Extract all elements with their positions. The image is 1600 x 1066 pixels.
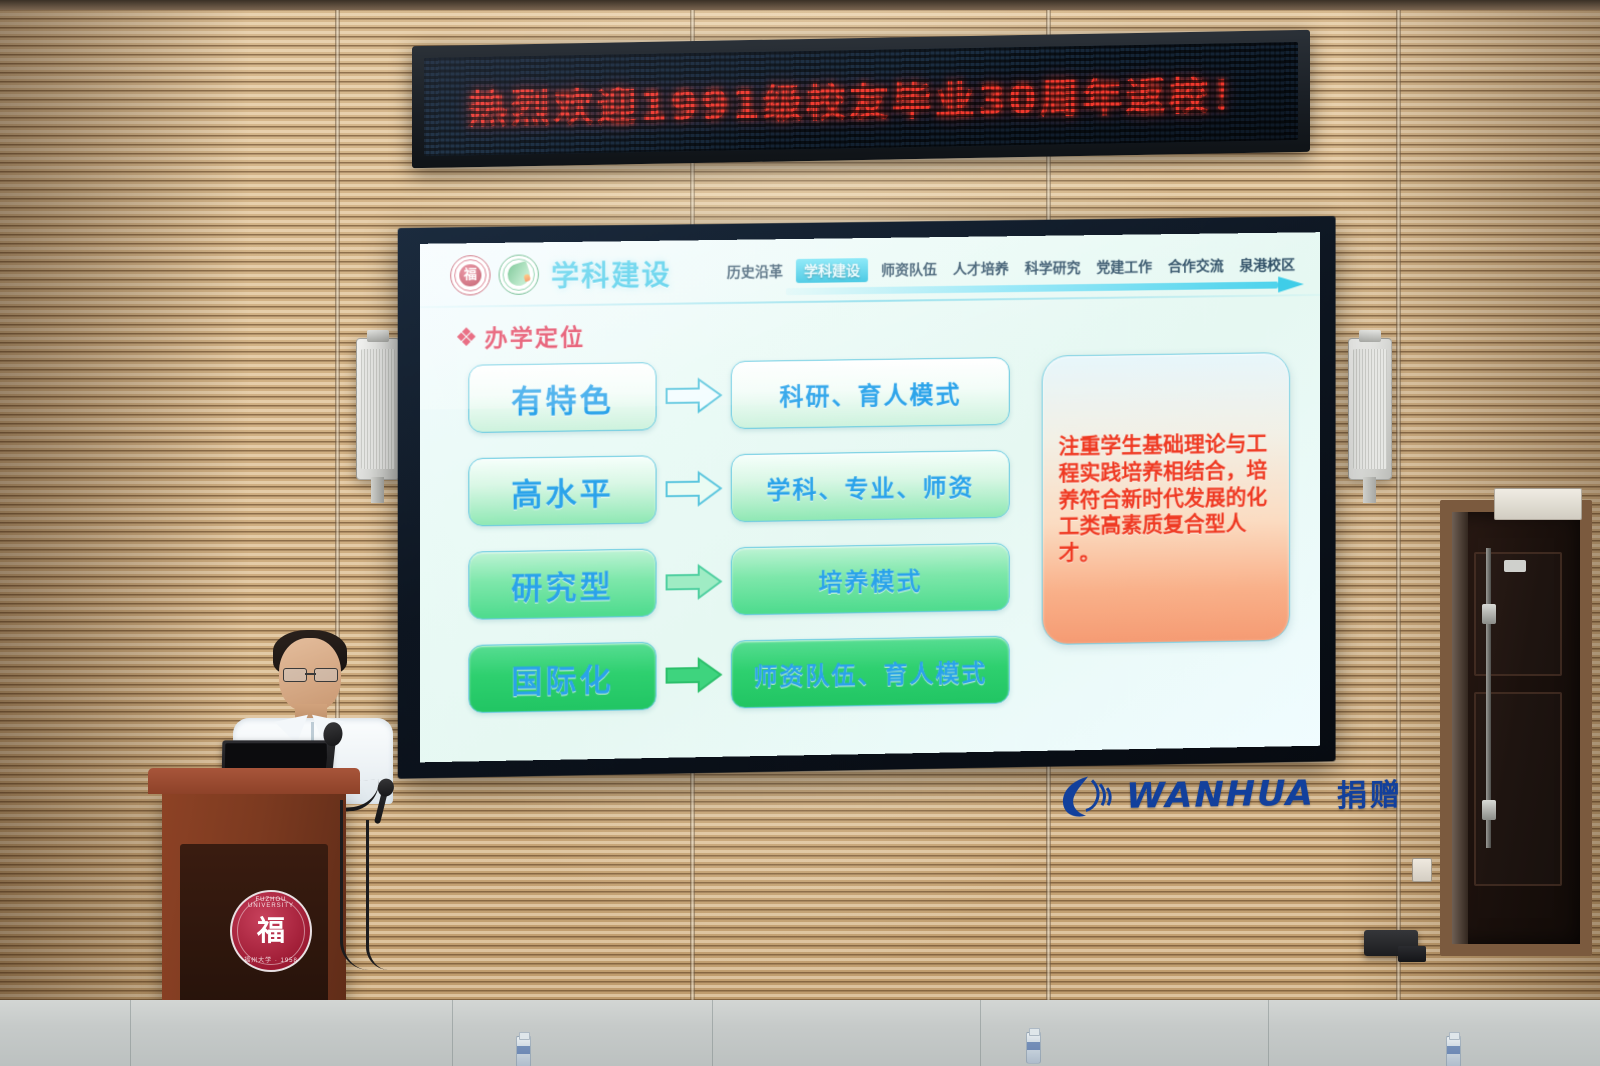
tab-quangang-campus[interactable]: 泉港校区	[1237, 253, 1298, 276]
tab-faculty[interactable]: 师资队伍	[878, 258, 940, 281]
emblem-arc-text: FUZHOU UNIVERSITY	[232, 897, 310, 909]
block-arrow-right-icon	[665, 468, 723, 509]
flow-row: 高水平 学科、专业、师资	[468, 447, 1029, 530]
speaker-mount	[1359, 330, 1381, 342]
door-hinge	[1482, 604, 1496, 624]
led-banner-screen: 热烈欢迎1991级校友毕业30周年返校！	[424, 42, 1298, 156]
diamond-bullet-icon	[458, 329, 474, 345]
door-sign-plate	[1504, 560, 1526, 572]
slide-header: 福 学科建设 历史沿革 学科建设 师资队伍 人才培养 科学研究 党建工作 合作交…	[420, 232, 1320, 306]
door-frame-edge	[1452, 512, 1468, 944]
tab-party-building[interactable]: 党建工作	[1093, 255, 1155, 278]
tab-history[interactable]: 历史沿革	[724, 260, 786, 283]
slide-title: 学科建设	[551, 254, 672, 296]
speaker-grille	[1353, 349, 1387, 469]
door-icon[interactable]	[1452, 512, 1580, 944]
flow-right-box: 培养模式	[731, 543, 1010, 616]
podium: FUZHOU UNIVERSITY 福 福州大学 · 1958	[148, 768, 360, 1030]
flow-right-label: 师资队伍、育人模式	[753, 652, 987, 691]
power-outlet-icon[interactable]	[1412, 858, 1432, 882]
callout-text: 注重学生基础理论与工程实践培养相结合，培养符合新时代发展的化工类高素质复合型人才…	[1059, 430, 1274, 567]
ribbon-arrow-icon	[1278, 276, 1304, 292]
emblem-year-text: 福州大学 · 1958	[232, 955, 310, 964]
presentation-slide: 福 学科建设 历史沿革 学科建设 师资队伍 人才培养 科学研究 党建工作 合作交…	[420, 232, 1320, 762]
college-seal-icon	[499, 254, 539, 295]
seal-ring	[454, 259, 486, 292]
fuzhou-university-emblem-icon: FUZHOU UNIVERSITY 福 福州大学 · 1958	[230, 890, 312, 972]
podium-top	[148, 768, 360, 794]
speaker-arm	[371, 477, 384, 503]
floor	[0, 1000, 1600, 1066]
flow-row: 有特色 科研、育人模式	[468, 354, 1029, 436]
floor-tile-line	[130, 1000, 131, 1066]
flow-right-label: 科研、育人模式	[779, 374, 961, 412]
flow-left-label: 国际化	[511, 654, 614, 701]
podium-body: FUZHOU UNIVERSITY 福 福州大学 · 1958	[162, 792, 346, 1030]
tab-scientific-research[interactable]: 科学研究	[1022, 256, 1084, 279]
section-heading-text: 办学定位	[484, 318, 585, 354]
block-arrow-right-icon	[665, 561, 723, 602]
floor-tile-line	[452, 1000, 453, 1066]
flow-left-label: 研究型	[511, 561, 614, 608]
flow-right-label: 培养模式	[818, 561, 922, 598]
flow-left-box: 研究型	[468, 548, 656, 619]
flow-right-box: 学科、专业、师资	[731, 450, 1010, 522]
header-divider	[420, 294, 1320, 308]
wanhua-leaf-icon	[1058, 774, 1116, 821]
floor-tile-line	[980, 1000, 981, 1066]
water-bottle-icon[interactable]	[1026, 1032, 1041, 1064]
door-hinge	[1482, 800, 1496, 820]
eyeglasses-icon	[283, 668, 338, 680]
flow-left-label: 高水平	[511, 467, 614, 514]
led-banner: 热烈欢迎1991级校友毕业30周年返校！	[412, 38, 1310, 160]
speaker-arm	[1363, 477, 1376, 503]
flow-left-box: 有特色	[468, 362, 656, 433]
water-bottle-icon[interactable]	[1446, 1036, 1461, 1066]
wall-speaker-right	[1348, 338, 1392, 480]
floor-tile-line	[1268, 1000, 1269, 1066]
flow-left-box: 国际化	[468, 642, 656, 714]
flow-row: 国际化 师资队伍、育人模式	[468, 632, 1029, 716]
led-banner-text: 热烈欢迎1991级校友毕业30周年返校！	[468, 63, 1255, 135]
audio-cable	[366, 820, 389, 970]
projection-screen: 福 学科建设 历史沿革 学科建设 师资队伍 人才培养 科学研究 党建工作 合作交…	[400, 222, 1338, 770]
speaker-mount	[367, 330, 389, 342]
callout-box: 注重学生基础理论与工程实践培养相结合，培养符合新时代发展的化工类高素质复合型人才…	[1042, 352, 1290, 645]
flow-left-label: 有特色	[511, 374, 614, 421]
water-bottle-icon[interactable]	[516, 1036, 531, 1066]
donor-chinese-text: 捐赠	[1337, 770, 1403, 815]
flow-right-box: 师资队伍、育人模式	[731, 636, 1010, 709]
ribbon-bar	[786, 282, 1278, 296]
podium-front-panel: FUZHOU UNIVERSITY 福 福州大学 · 1958	[180, 844, 328, 1022]
wall-vent	[1494, 488, 1582, 520]
donor-sign: WANHUA 捐赠	[1058, 769, 1403, 821]
flow-right-box: 科研、育人模式	[731, 357, 1010, 429]
block-arrow-right-icon	[665, 655, 723, 696]
tab-cooperation[interactable]: 合作交流	[1165, 254, 1227, 277]
wall-speaker-left	[356, 338, 400, 480]
block-arrow-right-icon	[665, 375, 723, 416]
audio-cable	[340, 800, 369, 970]
ceiling-edge	[0, 0, 1600, 10]
flow-diagram: 有特色 科研、育人模式 高水平	[468, 354, 1029, 736]
fuzhou-university-seal-icon: 福	[450, 255, 490, 296]
section-heading: 办学定位	[458, 318, 585, 354]
speaker-grille	[361, 349, 395, 469]
flow-row: 研究型 培养模式	[468, 539, 1029, 622]
floor-equipment	[1398, 946, 1426, 962]
tab-talent-cultivation[interactable]: 人才培养	[950, 257, 1012, 280]
donor-brand-text: WANHUA	[1126, 774, 1315, 817]
lecture-hall-scene: 热烈欢迎1991级校友毕业30周年返校！ 福	[0, 0, 1600, 1066]
flow-left-box: 高水平	[468, 455, 656, 526]
flow-right-label: 学科、专业、师资	[766, 467, 974, 505]
tab-discipline-construction[interactable]: 学科建设	[796, 258, 868, 283]
floor-tile-line	[712, 1000, 713, 1066]
